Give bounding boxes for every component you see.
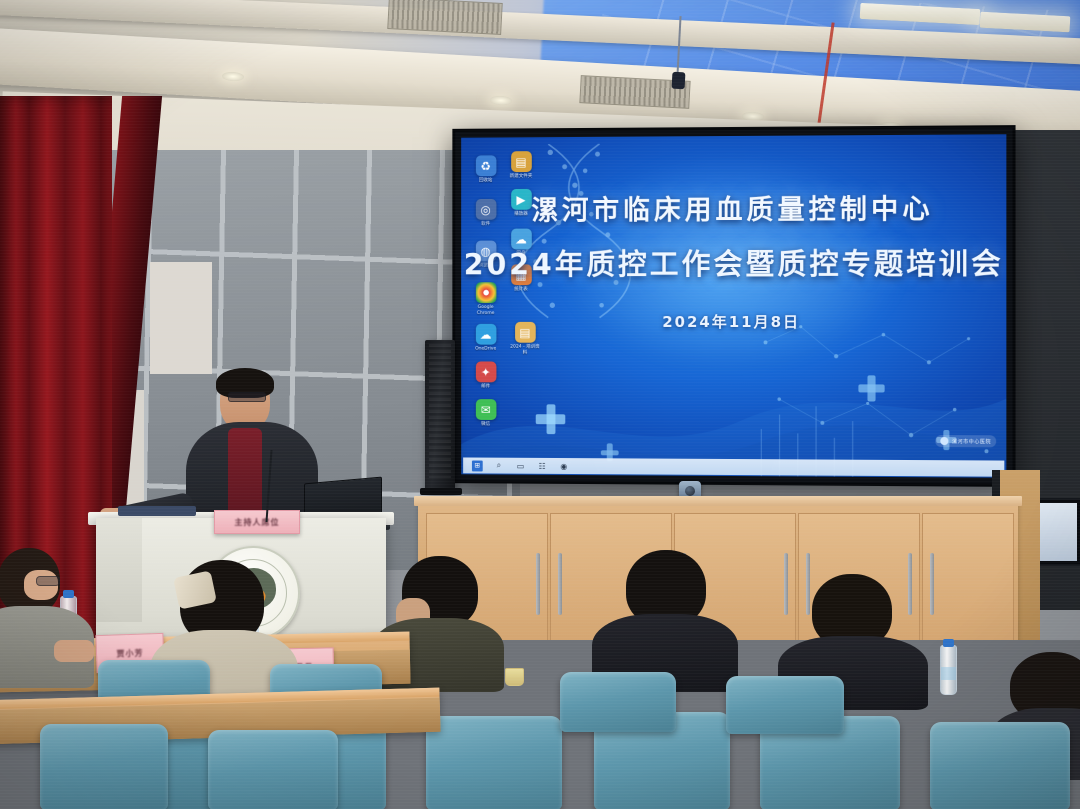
podium-nameplate: 主持人席位	[214, 510, 300, 534]
ceiling-sensor-icon	[672, 72, 686, 90]
network-icon[interactable]: ☷	[537, 460, 548, 471]
podium-folder	[118, 506, 196, 516]
folder-glyph: ▤	[511, 151, 532, 172]
paper-cup	[505, 668, 524, 686]
mail-icon[interactable]: ✦ 邮件	[473, 361, 498, 390]
onedrive-label: OneDrive	[473, 347, 498, 353]
chair-front-3[interactable]	[426, 716, 562, 809]
slide-title-line1: 漯河市临床用血质量控制中心	[461, 187, 1006, 228]
ceiling-vent-1	[387, 0, 503, 35]
slide-date: 2024年11月8日	[461, 311, 1006, 332]
chair-back-3[interactable]	[560, 672, 676, 732]
hands	[54, 640, 94, 662]
podium-side-wing	[96, 518, 142, 622]
chair-back-4[interactable]	[726, 676, 844, 734]
person-second-row-center	[592, 550, 738, 684]
windows-taskbar[interactable]: ⊞ ⌕ ▭ ☷ ◉	[463, 457, 1004, 476]
wechat-glyph: ✉	[475, 399, 496, 420]
medical-cross-icon-1	[536, 404, 566, 434]
projection-screen[interactable]: ♻ 回收站 ▤ 新建文件夹 ▶ 播放器 ◎ 软件 ☁ 网盘	[452, 125, 1015, 487]
search-icon[interactable]: ⌕	[493, 460, 504, 471]
watermark-text: 漯河市中心医院	[952, 438, 991, 445]
presenter-shirt	[228, 428, 262, 522]
cabinet-countertop	[414, 496, 1022, 506]
column-speaker-base	[420, 488, 462, 495]
cabinet-handle-2[interactable]	[558, 553, 562, 615]
slide-watermark: 漯河市中心医院	[936, 435, 996, 447]
chair-foreground-1[interactable]	[40, 724, 168, 809]
recycle-bin-icon[interactable]: ♻ 回收站	[473, 155, 498, 184]
mail-label: 邮件	[473, 384, 498, 390]
documents-folder-label: 2024 - 培训资料	[508, 345, 541, 356]
conference-room-photo: ♻ 回收站 ▤ 新建文件夹 ▶ 播放器 ◎ 软件 ☁ 网盘	[0, 0, 1080, 809]
glasses-icon	[228, 392, 266, 402]
projected-desktop[interactable]: ♻ 回收站 ▤ 新建文件夹 ▶ 播放器 ◎ 软件 ☁ 网盘	[461, 134, 1006, 477]
wechat-icon[interactable]: ✉ 微信	[473, 399, 498, 428]
column-speaker	[425, 340, 455, 492]
wechat-label: 微信	[473, 422, 498, 428]
start-button[interactable]: ⊞	[472, 460, 483, 471]
water-bottle-right	[940, 645, 957, 695]
taskview-icon[interactable]: ▭	[515, 460, 526, 471]
podium-nameplate-text: 主持人席位	[235, 517, 280, 528]
cabinet-handle-8[interactable]	[930, 553, 934, 615]
chair-foreground-2[interactable]	[208, 730, 338, 809]
slide-title-line2: 2024年质控工作会暨质控专题培训会	[461, 240, 1006, 283]
medical-cross-icon-3	[858, 376, 884, 402]
wall-panel-white-1	[150, 262, 212, 374]
glasses-icon	[36, 576, 60, 586]
desktop-icon-layer[interactable]: ♻ 回收站 ▤ 新建文件夹 ▶ 播放器 ◎ 软件 ☁ 网盘	[461, 134, 1006, 137]
cabinet-handle-1[interactable]	[536, 553, 540, 615]
recycle-bin-glyph: ♻	[475, 155, 496, 176]
person-front-left	[0, 548, 94, 678]
bottle-cap	[943, 639, 954, 647]
folder-label: 新建文件夹	[508, 174, 534, 180]
app-tray-icon[interactable]: ◉	[558, 460, 569, 471]
chair-front-6[interactable]	[930, 722, 1070, 809]
nameplate-front-left-text: 贾小芳	[116, 647, 143, 659]
watermark-logo-icon	[941, 437, 949, 445]
slide-text-block: 漯河市临床用血质量控制中心 2024年质控工作会暨质控专题培训会 2024年11…	[461, 187, 1006, 332]
recycle-bin-label: 回收站	[473, 178, 498, 184]
folder-icon[interactable]: ▤ 新建文件夹	[508, 151, 534, 180]
mail-glyph: ✦	[475, 361, 496, 382]
